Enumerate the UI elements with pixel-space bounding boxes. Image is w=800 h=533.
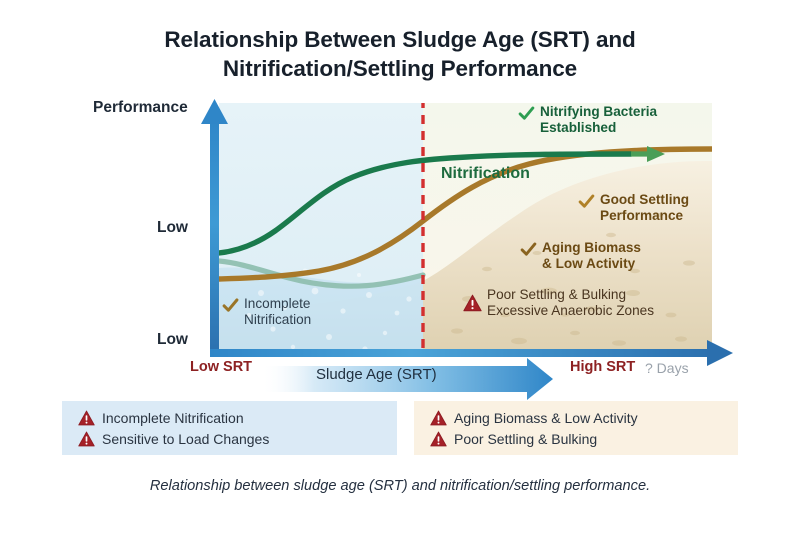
x-axis-title: Sludge Age (SRT) [316,366,437,383]
annotation-line-1: Poor Settling & Bulking [487,287,654,303]
warning-icon [78,431,95,447]
y-axis-tick-lower: Low [157,331,188,349]
check-icon [222,297,239,314]
warning-icon [430,431,447,447]
warning-icon [463,294,482,312]
annotation-poor-settling: Poor Settling & Bulking Excessive Anaero… [463,287,654,320]
warning-icon [430,410,447,426]
legend-item: Sensitive to Load Changes [78,429,397,449]
annotation-line-1: Good Settling [600,192,689,208]
legend-item: Poor Settling & Bulking [430,429,738,449]
legend-item-label: Sensitive to Load Changes [102,431,269,447]
figure-caption: Relationship between sludge age (SRT) an… [0,478,800,494]
legend-item-label: Poor Settling & Bulking [454,431,597,447]
annotation-aging-biomass: Aging Biomass & Low Activity [520,240,641,272]
annotation-line-2: Excessive Anaerobic Zones [487,303,654,319]
legend-item-label: Incomplete Nitrification [102,410,244,426]
annotation-line-2: Established [540,120,657,136]
annotation-incomplete-nitrification: Incomplete Nitrification [222,296,311,328]
check-icon [518,105,535,122]
chart-figure: Performance Low Low Low SRT High SRT ? D… [0,0,800,533]
y-axis-title: Performance [93,99,188,117]
warning-icon [78,410,95,426]
check-icon [578,193,595,210]
legend-item-label: Aging Biomass & Low Activity [454,410,638,426]
annotation-line-1: Incomplete [244,296,311,312]
legend-low-srt: Incomplete Nitrification Sensitive to Lo… [62,401,397,455]
x-axis-label-low-srt: Low SRT [190,359,252,375]
y-axis-tick-upper: Low [157,219,188,237]
annotation-line-1: Nitrifying Bacteria [540,104,657,120]
check-icon [520,241,537,258]
annotation-line-2: Nitrification [244,312,311,328]
annotation-line-2: Performance [600,208,689,224]
annotation-line-2: & Low Activity [542,256,641,272]
annotation-line-1: Aging Biomass [542,240,641,256]
curve-label-nitrification: Nitrification [441,165,530,183]
x-axis-units: ? Days [645,360,689,376]
annotation-nitrifying-bacteria: Nitrifying Bacteria Established [518,104,657,136]
legend-high-srt: Aging Biomass & Low Activity Poor Settli… [414,401,738,455]
legend-item: Aging Biomass & Low Activity [430,408,738,428]
legend-item: Incomplete Nitrification [78,408,397,428]
annotation-good-settling: Good Settling Performance [578,192,689,224]
x-axis-label-high-srt: High SRT [570,359,635,375]
